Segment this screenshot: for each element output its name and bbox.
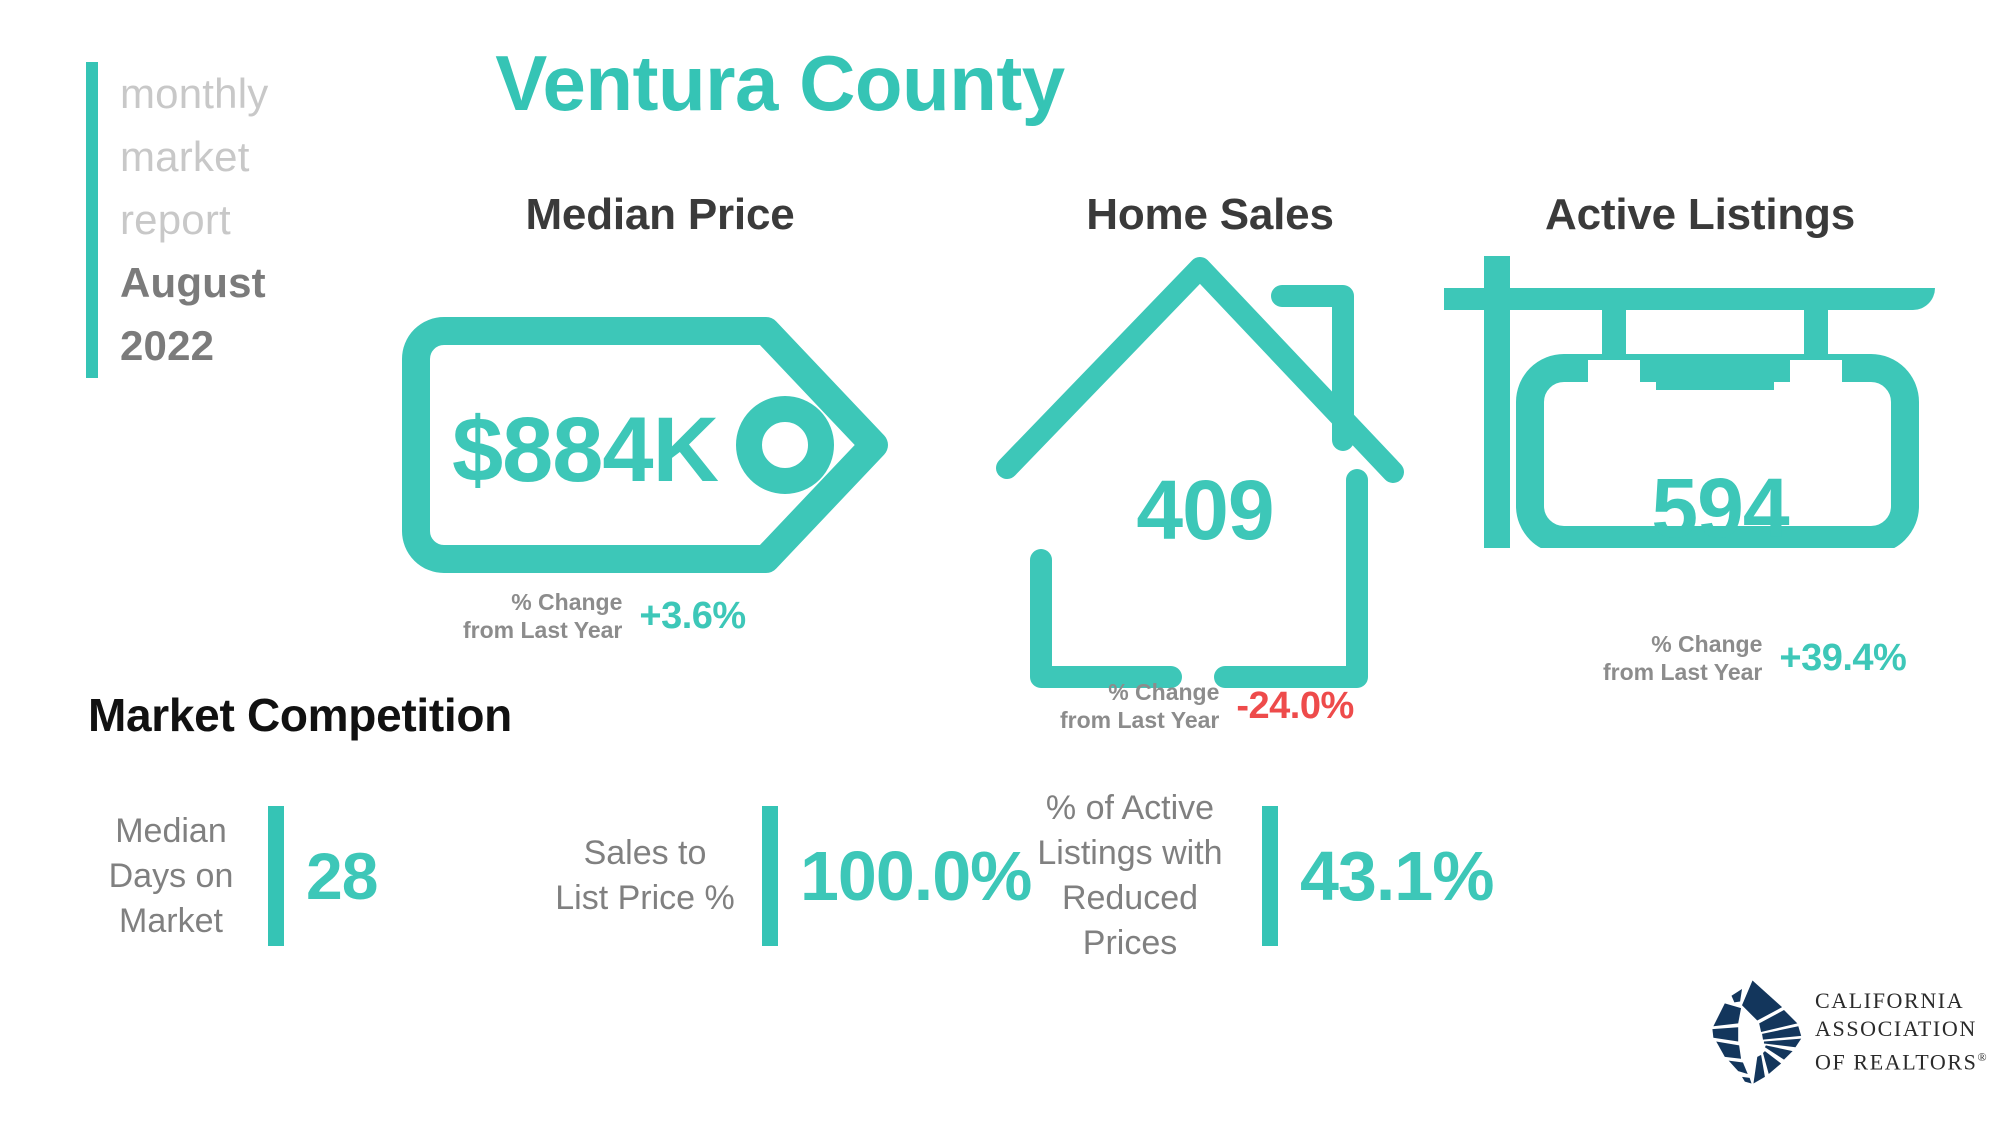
accent-bar-divider [268, 806, 284, 946]
section-title-market-competition: Market Competition [88, 688, 512, 742]
accent-bar-divider [762, 806, 778, 946]
page-title: Ventura County [0, 38, 2000, 129]
competition-item-label: Median Days on Market [96, 809, 246, 944]
metric-header-active-listings: Active Listings [1430, 190, 1970, 240]
yoy-change-label: % Change from Last Year [1603, 630, 1762, 686]
yoy-change-label: % Change from Last Year [463, 588, 622, 644]
metric-header-home-sales: Home Sales [1000, 190, 1420, 240]
yoy-change-active-listings: % Change from Last Year +39.4% [1603, 630, 1906, 686]
california-association-of-realtors-logo: CALIFORNIA ASSOCIATION OF REALTORS® [1700, 978, 1987, 1086]
logo-line-2: ASSOCIATION [1815, 1015, 1987, 1043]
infographic-canvas: monthly market report August 2022 Ventur… [0, 0, 2000, 1125]
registered-trademark-symbol: ® [1977, 1050, 1986, 1064]
logo-line-1: CALIFORNIA [1815, 987, 1987, 1015]
yoy-change-home-sales: % Change from Last Year -24.0% [1060, 678, 1354, 734]
competition-item-sales-to-list-price: Sales to List Price % 100.0% [550, 796, 1031, 956]
competition-item-label: Sales to List Price % [550, 831, 740, 921]
competition-item-value: 28 [306, 838, 377, 914]
report-label-line-3: report [120, 188, 268, 251]
yoy-change-value: +3.6% [639, 595, 745, 638]
report-month: August [120, 251, 268, 314]
report-year: 2022 [120, 314, 268, 377]
competition-item-median-days-on-market: Median Days on Market 28 [96, 796, 377, 956]
accent-bar-divider [1262, 806, 1278, 946]
competition-item-label: % of Active Listings with Reduced Prices [1020, 786, 1240, 966]
page-title-text: Ventura County [495, 39, 1064, 127]
yoy-change-median-price: % Change from Last Year +3.6% [463, 588, 746, 644]
car-diamond-mark-icon [1700, 978, 1805, 1086]
report-label-line-2: market [120, 125, 268, 188]
logo-wordmark: CALIFORNIA ASSOCIATION OF REALTORS® [1815, 987, 1987, 1076]
metric-value-median-price: $884K [420, 398, 750, 503]
yoy-change-value: -24.0% [1236, 685, 1353, 728]
metric-value-home-sales: 409 [1085, 462, 1325, 559]
competition-item-value: 43.1% [1300, 836, 1493, 916]
logo-line-3-text: OF REALTORS [1815, 1050, 1977, 1075]
competition-item-value: 100.0% [800, 836, 1031, 916]
logo-line-3: OF REALTORS® [1815, 1043, 1987, 1076]
market-competition-row: Median Days on Market 28 Sales to List P… [0, 796, 2000, 956]
competition-item-reduced-prices: % of Active Listings with Reduced Prices… [1020, 796, 1493, 956]
yoy-change-label: % Change from Last Year [1060, 678, 1219, 734]
yoy-change-value: +39.4% [1779, 637, 1906, 680]
metric-header-median-price: Median Price [400, 190, 920, 240]
metric-value-active-listings: 594 [1560, 460, 1880, 557]
